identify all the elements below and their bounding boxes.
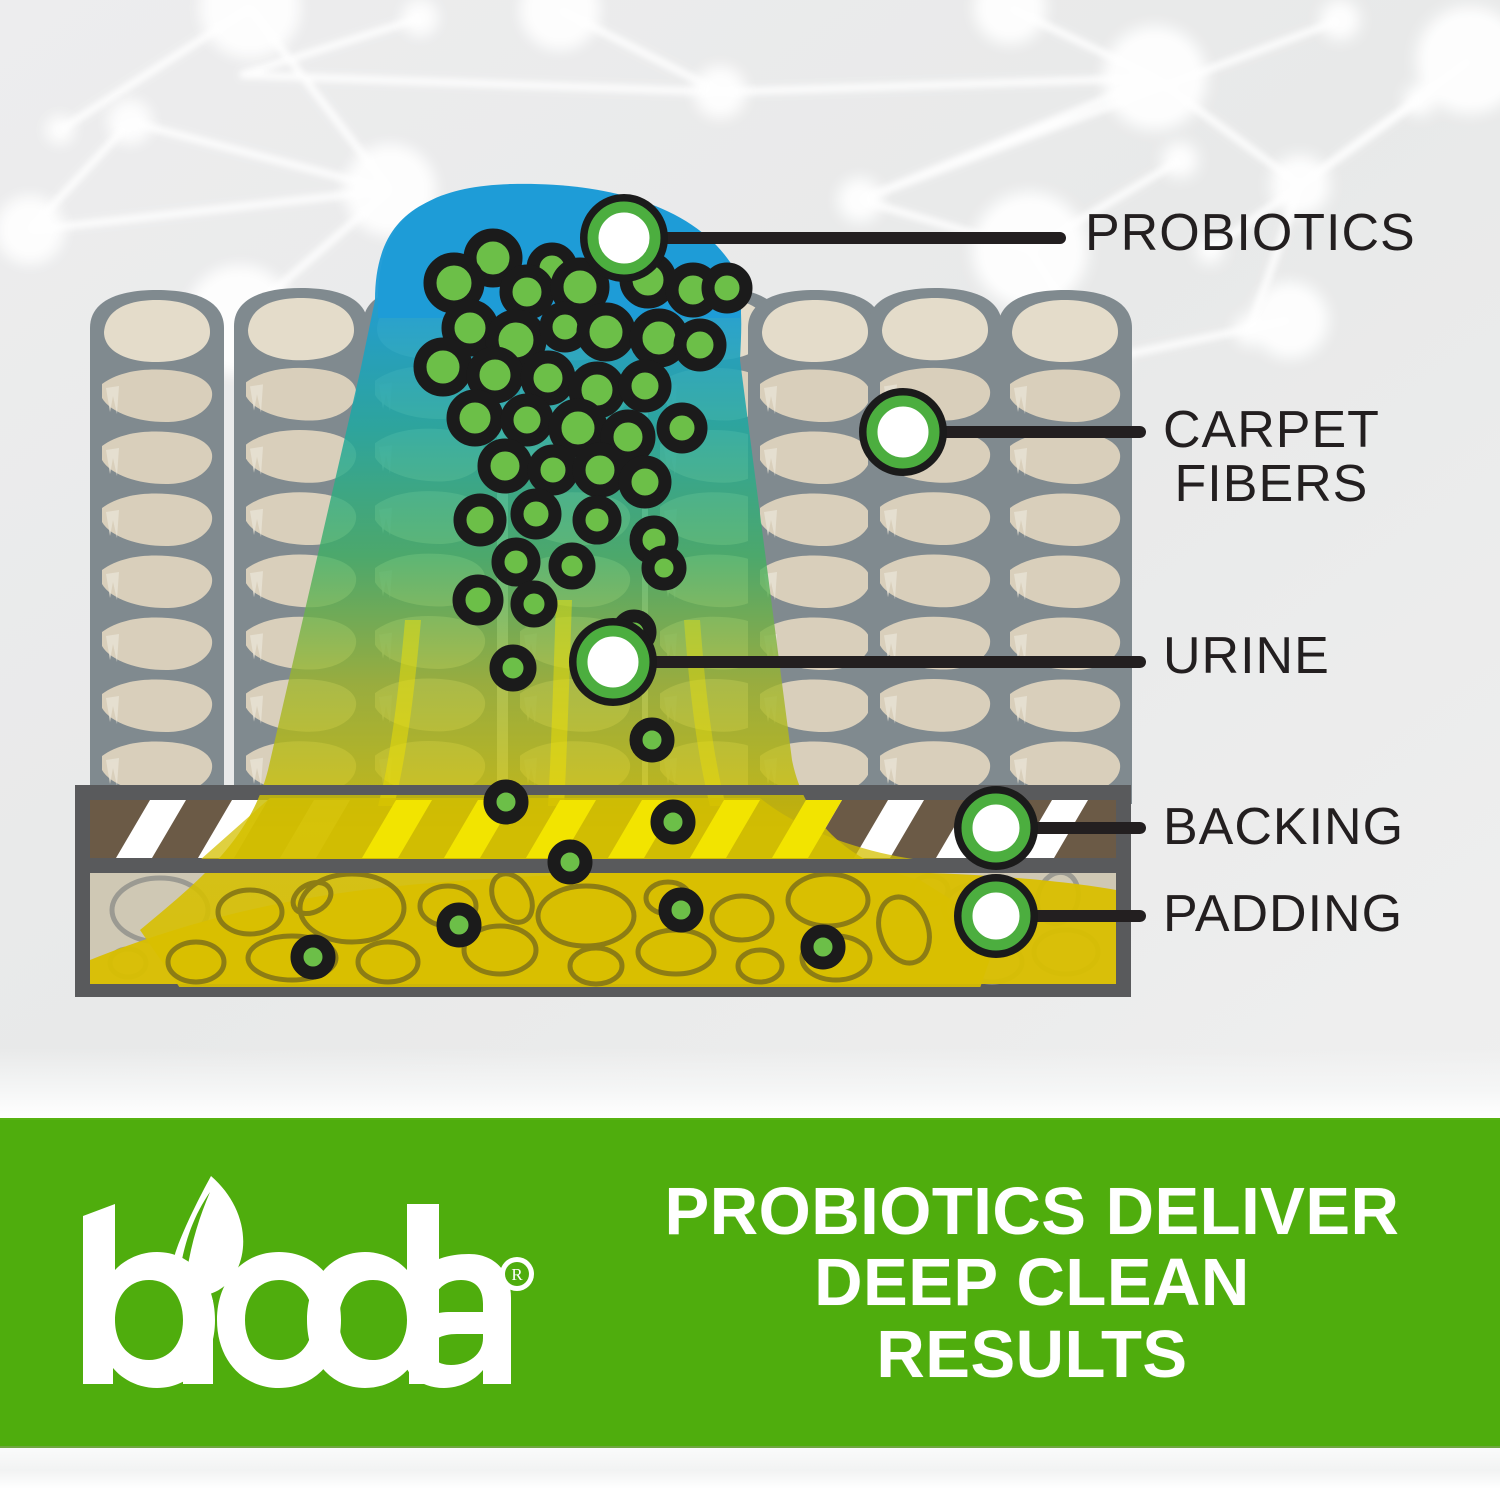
brand-banner: R PROBIOTICS DELIVER DEEP CLEAN RESULTS	[0, 1118, 1500, 1448]
logo-letter-i	[183, 1300, 213, 1384]
registered-mark-icon: R	[500, 1257, 534, 1291]
infographic-root: PROBIOTICS CARPET FIBERS URINE BACKING P…	[0, 0, 1500, 1489]
below-banner-strip	[0, 1448, 1500, 1489]
panel-bottom-fade	[0, 1048, 1500, 1118]
callout-marker-padding[interactable]	[960, 880, 1032, 952]
callout-label-padding: PADDING	[1163, 887, 1403, 941]
diagram-panel: PROBIOTICS CARPET FIBERS URINE BACKING P…	[0, 0, 1500, 1118]
callout-marker-urine[interactable]	[575, 624, 651, 700]
brand-logo: R	[0, 1118, 600, 1448]
callout-marker-backing[interactable]	[960, 792, 1032, 864]
carpet-cross-section-art	[0, 0, 1500, 1118]
svg-text:R: R	[511, 1265, 523, 1284]
logo-letter-a	[402, 1254, 511, 1388]
callout-label-carpet-fibers: CARPET FIBERS	[1163, 403, 1380, 511]
callout-label-backing: BACKING	[1163, 800, 1404, 854]
callout-marker-carpet-fibers[interactable]	[865, 394, 941, 470]
callout-label-probiotics: PROBIOTICS	[1085, 206, 1416, 260]
callout-label-urine: URINE	[1163, 629, 1330, 683]
banner-tagline: PROBIOTICS DELIVER DEEP CLEAN RESULTS	[600, 1176, 1500, 1389]
bioda-logo-svg: R	[65, 1168, 535, 1398]
callout-marker-probiotics[interactable]	[586, 200, 662, 276]
